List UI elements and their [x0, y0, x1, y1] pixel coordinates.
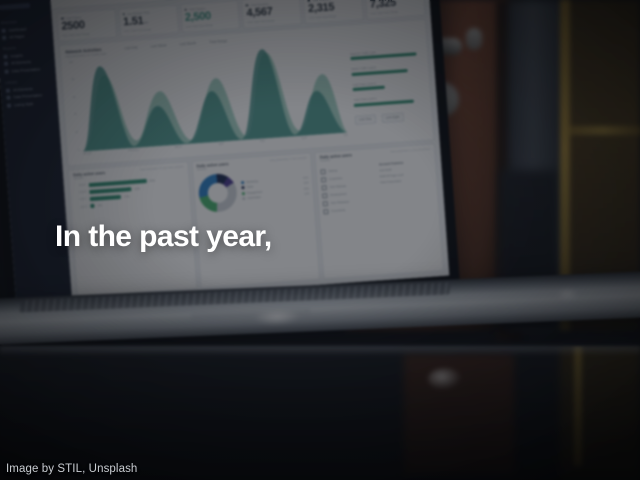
- sidebar-item-label: All Elements: [13, 86, 33, 91]
- list-item[interactable]: Customers: [321, 173, 374, 182]
- list-item[interactable]: Auto Release: [322, 181, 375, 190]
- sidebar-section-label: Reports: [3, 44, 50, 51]
- list-item[interactable]: Startup: [321, 165, 374, 174]
- sidebar-section-label: Library: [5, 77, 52, 84]
- grid-icon: [2, 28, 6, 32]
- donut-legend-percent: 42%: [303, 176, 309, 179]
- sidebar-item-all-elements[interactable]: All Elements: [4, 59, 51, 66]
- legend-item: Total Visits Level In: [352, 77, 424, 91]
- donut-legend-percent: 14%: [304, 193, 310, 196]
- list-item-label: Auto Release: [329, 184, 346, 189]
- bar-percent: 27%: [124, 194, 130, 198]
- bar-fill: [89, 187, 131, 194]
- checklist-column: Startup Customers Auto Release Developme…: [321, 162, 377, 217]
- analytics-dashboard: Overview Dashboard All Pages Reports Ins…: [0, 0, 449, 307]
- donut-legend-label: Sales: [247, 186, 254, 189]
- list-item[interactable]: Development: [322, 189, 375, 198]
- bar-fill: [90, 195, 121, 201]
- list-item-label: Development: [330, 192, 347, 197]
- tab-last-month[interactable]: Last Month: [179, 41, 196, 46]
- bar-label: Link D: [75, 205, 87, 209]
- base-highlight-right: [556, 288, 578, 301]
- sidebar-item-library-data[interactable]: Data Presentation: [6, 93, 53, 100]
- legend-dot-icon: [241, 186, 244, 189]
- y-tick: 20: [75, 131, 78, 134]
- y-tick: 60: [73, 96, 76, 99]
- y-tick: 100: [69, 60, 74, 63]
- y-tick: 80: [71, 78, 74, 81]
- shelf-rail-horizontal: [566, 126, 640, 135]
- bar-percent: 52%: [149, 178, 155, 182]
- checkbox-icon[interactable]: [322, 193, 327, 198]
- reflection-shelf: [560, 346, 640, 480]
- bar-percent: 32%: [134, 186, 140, 190]
- kpi-unit: Sec: [143, 20, 148, 24]
- kpi-card: Total Visitors 2500 From Total Visits Ra…: [57, 9, 118, 42]
- kpi-card: Total Sessions 4,567 From Total Visits R…: [242, 0, 303, 28]
- bar-label: Link C: [75, 198, 87, 202]
- sidebar-item-label: All Pages: [9, 35, 24, 40]
- tab-last-day[interactable]: Last Day: [124, 45, 138, 50]
- bar-fill: [90, 204, 95, 208]
- laptop-lid: Overview Dashboard All Pages Reports Ins…: [0, 0, 460, 323]
- tab-total-range[interactable]: Total Range: [209, 38, 227, 43]
- donut-legend-percent: 16%: [303, 182, 309, 185]
- panel-checklist: Data presentation of account features Da…: [314, 143, 444, 280]
- features-item: Data Presentation: [380, 177, 432, 184]
- x-tick: March: [175, 145, 183, 154]
- list-item-label: Startup: [328, 168, 337, 173]
- screenshot-canvas: Overview Dashboard All Pages Reports Ins…: [0, 0, 640, 480]
- legend-item: Total Visits Level II: [353, 93, 425, 107]
- chart-link-buttons: Link One Link Eight: [355, 110, 427, 124]
- table-icon: [4, 70, 8, 74]
- list-item-label: Auto Released: [331, 200, 350, 205]
- bar-label: Link B: [74, 191, 86, 195]
- donut-legend: Marketing 42% Sales 16%: [241, 173, 310, 203]
- chart-series-area: [76, 41, 348, 151]
- reflection-knob: [428, 368, 462, 390]
- legend-item: Network Traffic Light: [350, 47, 422, 61]
- legend-item: Name Traffic Layers: [351, 62, 423, 76]
- kpi-card: Total Followers 2,315 From Total Visits …: [303, 0, 364, 24]
- checkbox-icon[interactable]: [321, 169, 326, 174]
- list-item-label: Customers: [329, 176, 343, 181]
- sidebar-item-label: Insights: [10, 53, 23, 58]
- sidebar-item-data-presentation[interactable]: Data Presentation: [4, 66, 51, 73]
- donut-legend-label: Engagement: [247, 191, 262, 195]
- features-column: Account Features Auto Build Build All Pa…: [379, 158, 435, 213]
- tab-last-week[interactable]: Last Week: [150, 43, 166, 48]
- x-tick: January: [83, 151, 93, 161]
- x-tick: July: [343, 133, 348, 142]
- legend-dot-icon: [241, 181, 244, 184]
- donut-chart: [197, 172, 238, 213]
- legend-bar: [353, 86, 385, 91]
- image-credit: Image by STIL, Unsplash: [6, 463, 137, 475]
- link-one-button[interactable]: Link One: [355, 114, 376, 124]
- checkbox-icon[interactable]: [322, 185, 327, 190]
- x-tick: May: [260, 139, 266, 148]
- document-icon: [6, 96, 10, 100]
- x-tick: April: [218, 142, 224, 151]
- sidebar-item-all-pages[interactable]: All Pages: [2, 33, 49, 40]
- chart-icon: [3, 54, 7, 58]
- chart-legend: Network Traffic Light Name Traffic Layer…: [343, 33, 428, 142]
- sidebar-section-label: Overview: [1, 18, 48, 25]
- table-reflection: [0, 346, 640, 480]
- box-icon: [6, 88, 10, 92]
- bar-label: Link A: [74, 183, 86, 187]
- base-highlight: [253, 308, 302, 326]
- legend-dot-icon: [241, 192, 244, 195]
- checkbox-icon[interactable]: [321, 177, 326, 182]
- donut-wrapper: Marketing 42% Sales 16%: [197, 167, 310, 213]
- y-tick: 0: [78, 148, 80, 151]
- sidebar-item-label: Data Presentation: [13, 93, 42, 99]
- donut-legend-label: Marketing: [246, 180, 258, 184]
- reflection-rail: [574, 346, 582, 466]
- checklist-columns: Startup Customers Auto Release Developme…: [321, 158, 435, 217]
- dashboard-main: Welcome to Dashboard Data Analytics Tool…: [50, 0, 449, 303]
- list-icon: [7, 103, 11, 107]
- legend-label: Total Visits Level In: [352, 77, 424, 86]
- sidebar-item-label: Data Presentation: [11, 67, 40, 73]
- link-eight-button[interactable]: Link Eight: [381, 112, 404, 123]
- sidebar-item-label: Dashboard: [8, 27, 26, 32]
- layers-icon: [4, 62, 8, 66]
- door-lock-icon: [466, 28, 482, 50]
- sidebar-item-label: Listing Style: [14, 102, 34, 107]
- kpi-card: Avg Session Time 1.51Sec From Total Visi…: [118, 4, 179, 37]
- sidebar-logo: [0, 3, 30, 10]
- donut-legend-percent: 20%: [304, 187, 310, 190]
- x-tick: February: [128, 148, 139, 158]
- donut-legend-label: Automation: [247, 196, 261, 200]
- headline-text: In the past year,: [55, 222, 272, 252]
- x-tick: June: [301, 136, 307, 145]
- sidebar-item-label: All Elements: [11, 60, 31, 65]
- list-item-label: Documents: [331, 208, 345, 213]
- checkbox-icon[interactable]: [323, 201, 328, 206]
- sidebar-item-listing-style[interactable]: Listing Style: [7, 100, 54, 107]
- sidebar-item-library-elements[interactable]: All Elements: [6, 85, 53, 92]
- area-chart-svg: [76, 41, 348, 151]
- y-tick: 40: [74, 113, 77, 116]
- list-item[interactable]: Auto Released: [323, 197, 376, 206]
- laptop-screen: Overview Dashboard All Pages Reports Ins…: [0, 0, 449, 307]
- pages-icon: [2, 36, 6, 40]
- legend-dot-icon: [242, 197, 245, 200]
- bar-percent: 3%: [98, 203, 102, 207]
- chart-plot: 10080 6040 200: [66, 41, 351, 162]
- reflection-edge-glow: [0, 346, 640, 356]
- checkbox-icon[interactable]: [324, 209, 329, 214]
- kpi-card: Total Viewers 2,500 From Total Visits Ra…: [180, 0, 241, 33]
- list-item[interactable]: Documents: [324, 205, 377, 214]
- kpi-card: Total Campaigns 7,325 From Total Visits …: [365, 0, 426, 19]
- sidebar-item-insights[interactable]: Insights: [3, 51, 50, 58]
- sidebar-item-dashboard[interactable]: Dashboard: [2, 25, 49, 32]
